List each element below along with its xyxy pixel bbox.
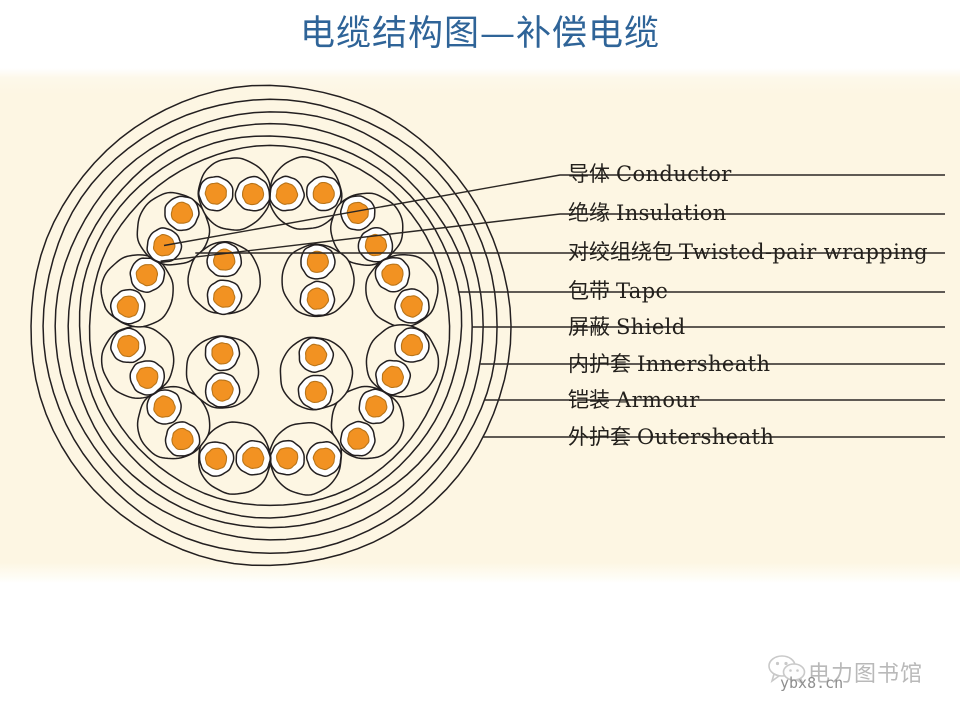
legend-item-twisted-pair-wrapping: 对绞组绕包Twisted-pair wrapping [568,242,928,263]
legend-label-en: Outersheath [631,425,774,449]
legend-label-en: Armour [610,388,700,412]
watermark-url: ybx8.cn [780,674,843,692]
legend-item-conductor: 导体Conductor [568,164,732,185]
page-title: 电缆结构图—补偿电缆 [300,17,660,52]
legend-label-en: Shield [610,315,686,339]
legend-label-cn: 铠装 [568,388,610,412]
legend-item-shield: 屏蔽Shield [568,317,686,338]
legend-label-en: Innersheath [631,352,770,376]
legend-item-innersheath: 内护套Innersheath [568,354,770,375]
legend-item-insulation: 绝缘Insulation [568,203,727,224]
legend-label-en: Conductor [610,162,732,186]
legend-label-cn: 导体 [568,162,610,186]
slide-canvas: 电缆结构图—补偿电缆 导体Conductor 绝缘Insulation 对绞组绕… [0,0,960,720]
legend-label-cn: 屏蔽 [568,315,610,339]
title-band: 电缆结构图—补偿电缆 [0,0,960,68]
legend-label-cn: 绝缘 [568,201,610,225]
legend-label-en: Twisted-pair wrapping [673,240,928,264]
legend-label-en: Tape [610,279,668,303]
legend-label-cn: 包带 [568,279,610,303]
legend-label-cn: 对绞组绕包 [568,240,673,264]
legend-label-cn: 内护套 [568,352,631,376]
watermark: 电力图书馆 ybx8.cn [768,654,958,700]
legend-item-outersheath: 外护套Outersheath [568,427,774,448]
legend-item-armour: 铠装Armour [568,390,700,411]
legend-layer: 导体Conductor 绝缘Insulation 对绞组绕包Twisted-pa… [0,68,960,583]
legend-item-tape: 包带Tape [568,281,668,302]
legend-label-en: Insulation [610,201,727,225]
legend-label-cn: 外护套 [568,425,631,449]
